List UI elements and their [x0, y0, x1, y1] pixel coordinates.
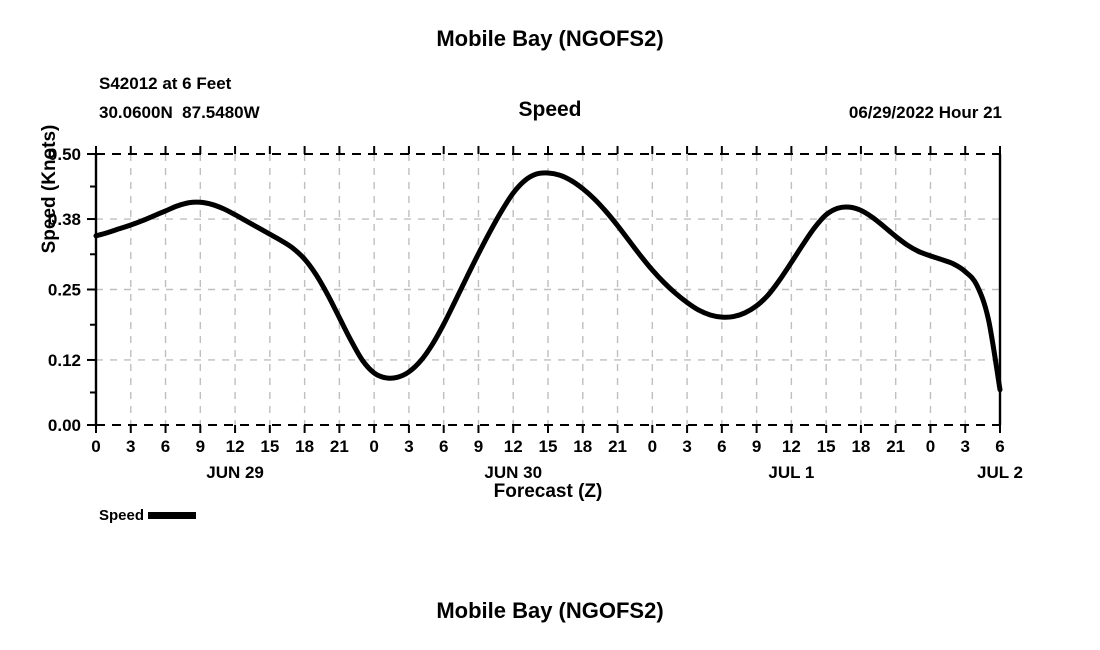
chart-svg: 036912151821036912151821036912151821036 …	[0, 0, 1100, 650]
x-tick-label: 0	[91, 437, 100, 456]
day-label: JUL 1	[768, 463, 814, 482]
x-tick-label: 6	[995, 437, 1004, 456]
legend-line-swatch	[148, 512, 196, 519]
x-tick-label: 12	[226, 437, 245, 456]
x-tick-label: 0	[926, 437, 935, 456]
x-tick-label: 15	[260, 437, 279, 456]
x-tick-label: 0	[369, 437, 378, 456]
x-tick-label: 15	[817, 437, 836, 456]
x-tick-label: 21	[330, 437, 349, 456]
x-tick-label: 21	[608, 437, 627, 456]
x-tick-label: 6	[439, 437, 448, 456]
day-label: JUN 30	[484, 463, 542, 482]
x-tick-label: 3	[404, 437, 413, 456]
x-tick-label: 3	[960, 437, 969, 456]
day-label: JUN 29	[206, 463, 264, 482]
x-tick-label: 12	[504, 437, 523, 456]
x-tick-label: 18	[573, 437, 592, 456]
plot-area: 036912151821036912151821036912151821036 …	[0, 0, 1100, 650]
grid-layer	[96, 154, 1000, 425]
chart-page: Mobile Bay (NGOFS2) S42012 at 6 Feet 30.…	[0, 0, 1100, 650]
x-tick-label: 3	[682, 437, 691, 456]
x-tick-label: 0	[648, 437, 657, 456]
day-label: JUL 2	[977, 463, 1023, 482]
x-tick-label: 12	[782, 437, 801, 456]
x-tick-label: 21	[886, 437, 905, 456]
y-tick-label: 0.12	[48, 351, 81, 370]
x-tick-label: 9	[752, 437, 761, 456]
y-axis-title: Speed (Knots)	[39, 74, 61, 304]
x-tick-label: 9	[474, 437, 483, 456]
x-tick-labels: 036912151821036912151821036912151821036	[91, 437, 1004, 456]
x-tick-label: 6	[161, 437, 170, 456]
x-tick-label: 3	[126, 437, 135, 456]
legend: Speed	[99, 507, 196, 524]
x-tick-label: 9	[196, 437, 205, 456]
x-tick-label: 18	[295, 437, 314, 456]
x-tick-label: 18	[851, 437, 870, 456]
x-tick-label: 6	[717, 437, 726, 456]
x-axis-title: Forecast (Z)	[96, 481, 1000, 503]
legend-label: Speed	[99, 507, 144, 524]
y-tick-label: 0.00	[48, 416, 81, 435]
page-title-bottom: Mobile Bay (NGOFS2)	[0, 598, 1100, 624]
day-labels: JUN 29JUN 30JUL 1JUL 2	[206, 463, 1023, 482]
x-tick-label: 15	[539, 437, 558, 456]
